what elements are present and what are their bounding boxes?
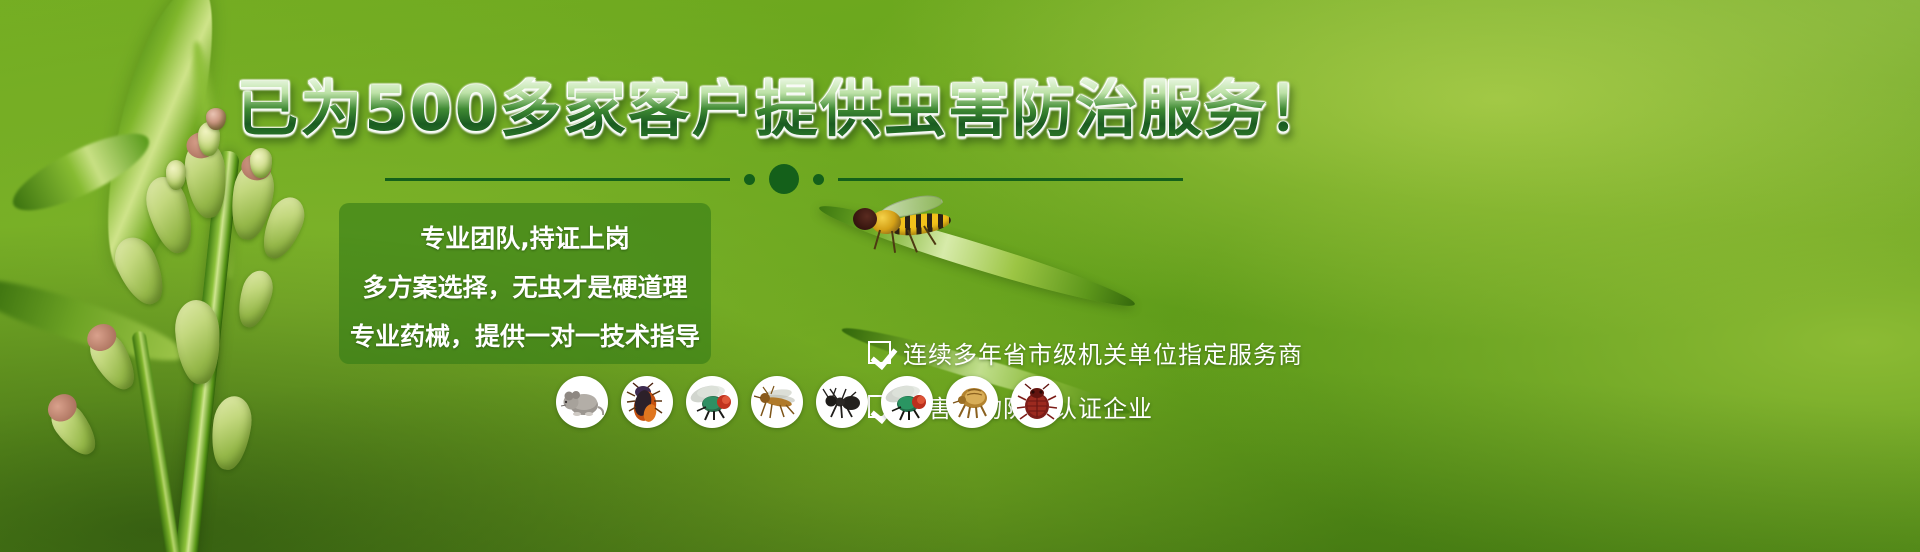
- fly-leg: [874, 230, 881, 250]
- mosquito-icon[interactable]: [751, 376, 803, 428]
- cockroach-icon[interactable]: [621, 376, 673, 428]
- fly-head: [853, 208, 877, 230]
- divider-dot-small: [813, 174, 824, 185]
- mouse-icon[interactable]: [556, 376, 608, 428]
- decorative-divider: [0, 164, 1568, 194]
- pest-icon-strip: [556, 376, 1063, 428]
- fly-leg: [891, 231, 896, 253]
- credential-label: 连续多年省市级机关单位指定服务商: [903, 335, 1303, 370]
- ant-icon[interactable]: [816, 376, 868, 428]
- divider-dot-small: [744, 174, 755, 185]
- selling-point-line-3: 专业药械，提供一对一技术指导: [339, 317, 711, 353]
- flea-icon[interactable]: [946, 376, 998, 428]
- flower-bud: [207, 394, 255, 473]
- blowfly-icon[interactable]: [881, 376, 933, 428]
- divider-rule-left: [385, 178, 730, 181]
- banner-headline: 已为500多家客户提供虫害防治服务！: [0, 78, 1568, 140]
- divider-rule-right: [838, 178, 1183, 181]
- plant-stem: [131, 330, 182, 552]
- hoverfly-photo: [845, 196, 955, 250]
- flower-bud: [233, 267, 278, 331]
- bedbug-icon[interactable]: [1011, 376, 1063, 428]
- promo-banner: 已为500多家客户提供虫害防治服务！ 专业团队,持证上岗 多方案选择，无虫才是硬…: [0, 0, 1920, 552]
- housefly-icon[interactable]: [686, 376, 738, 428]
- selling-points-panel: 专业团队,持证上岗 多方案选择，无虫才是硬道理 专业药械，提供一对一技术指导: [339, 203, 711, 364]
- checkbox-checked-icon: [868, 341, 891, 364]
- list-item: 连续多年省市级机关单位指定服务商: [868, 332, 1303, 372]
- selling-point-line-2: 多方案选择，无虫才是硬道理: [339, 268, 711, 304]
- flower-bud: [44, 396, 104, 462]
- selling-point-line-1: 专业团队,持证上岗: [339, 219, 711, 255]
- divider-dot-large: [769, 164, 799, 194]
